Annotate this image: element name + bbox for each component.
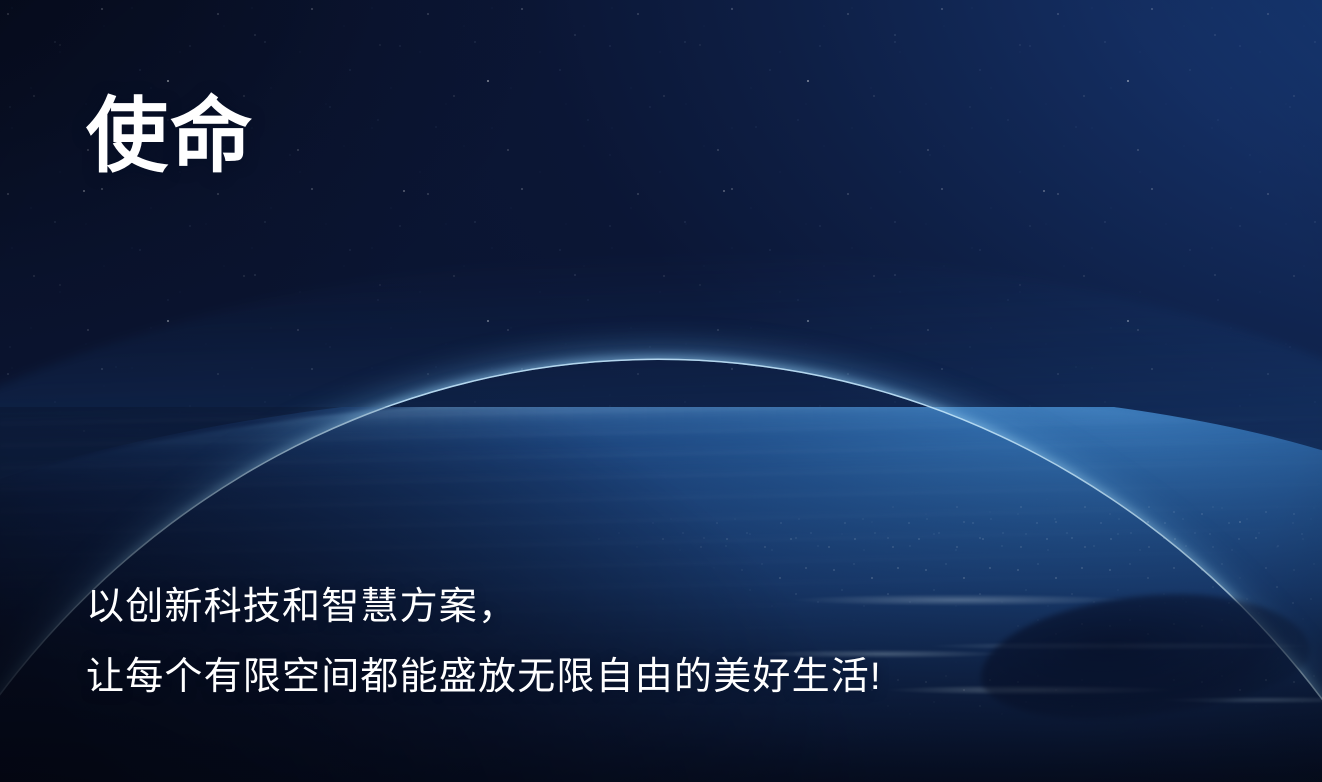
- mission-slide: 使命 以创新科技和智慧方案， 让每个有限空间都能盛放无限自由的美好生活!: [0, 0, 1322, 782]
- mission-statement-line-2: 让每个有限空间都能盛放无限自由的美好生活!: [86, 642, 882, 712]
- slide-content: 使命 以创新科技和智慧方案， 让每个有限空间都能盛放无限自由的美好生活!: [0, 0, 1322, 782]
- mission-statement: 以创新科技和智慧方案， 让每个有限空间都能盛放无限自由的美好生活!: [86, 572, 882, 712]
- page-title: 使命: [86, 96, 254, 178]
- mission-statement-line-1: 以创新科技和智慧方案，: [86, 572, 882, 642]
